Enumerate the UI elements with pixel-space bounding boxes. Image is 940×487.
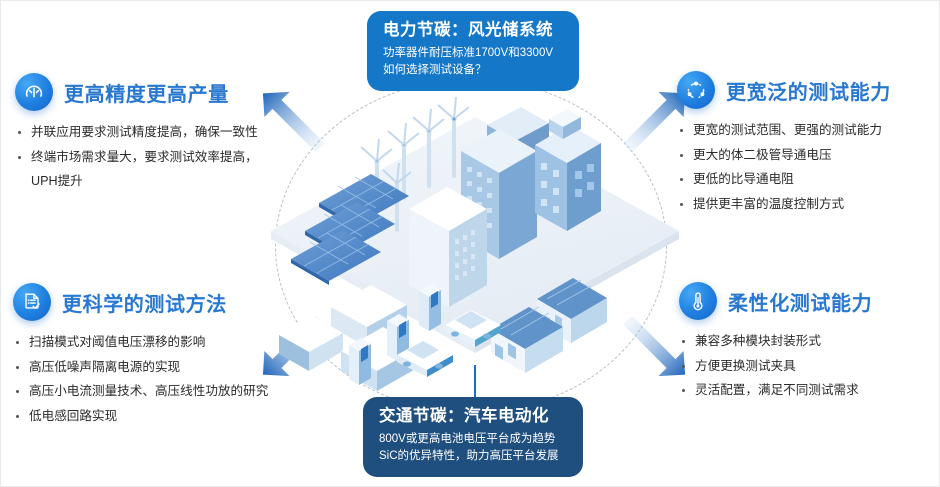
list-item: 并联应用要求测试精度提高，确保一致性 bbox=[15, 120, 283, 145]
infographic-root: 电力节碳：风光储系统 功率器件耐压标准1700V和3300V 如何选择测试设备？… bbox=[0, 0, 940, 487]
callout-top-line-2: 如何选择测试设备？ bbox=[383, 62, 563, 80]
callout-bottom: 交通节碳：汽车电动化 800V或更高电池电压平台成为趋势 SiC的优异特性，助力… bbox=[363, 397, 583, 477]
callout-bottom-line-1: 800V或更高电池电压平台成为趋势 bbox=[379, 431, 567, 449]
feature-block-header: 更高精度更高产量 bbox=[15, 73, 283, 111]
gauge-icon bbox=[15, 73, 53, 111]
central-white-tower bbox=[409, 187, 487, 307]
list-item: 方便更换测试夹具 bbox=[679, 354, 929, 379]
document-check-icon bbox=[13, 283, 51, 321]
feature-block-flexible-test-capability: 柔性化测试能力 兼容多种模块封装形式 方便更换测试夹具 灵活配置，满足不同测试需… bbox=[679, 282, 929, 403]
share-network-icon bbox=[677, 71, 715, 109]
list-item: 高压小电流测量技术、高压线性功放的研究 bbox=[13, 379, 303, 404]
list-item: 终端市场需求量大，要求测试效率提高，UPH提升 bbox=[15, 145, 283, 194]
feature-block-header: 更宽泛的测试能力 bbox=[677, 71, 935, 109]
feature-title: 柔性化测试能力 bbox=[728, 287, 872, 316]
list-item: 低电感回路实现 bbox=[13, 404, 303, 429]
feature-block-wider-test-capability: 更宽泛的测试能力 更宽的测试范围、更强的测试能力 更大的体二极管导通电压 更低的… bbox=[677, 71, 935, 216]
list-item: 更大的体二极管导通电压 bbox=[677, 143, 935, 168]
list-item: 更宽的测试范围、更强的测试能力 bbox=[677, 118, 935, 143]
feature-list: 兼容多种模块封装形式 方便更换测试夹具 灵活配置，满足不同测试需求 bbox=[679, 329, 929, 403]
feature-block-scientific-test-method: 更科学的测试方法 扫描模式对阈值电压漂移的影响 高压低噪声隔离电源的实现 高压小… bbox=[13, 283, 303, 428]
callout-top-title: 电力节碳：风光储系统 bbox=[383, 20, 563, 41]
list-item: 提供更丰富的温度控制方式 bbox=[677, 192, 935, 217]
list-item: 兼容多种模块封装形式 bbox=[679, 329, 929, 354]
thermometer-icon bbox=[679, 282, 717, 320]
feature-list: 扫描模式对阈值电压漂移的影响 高压低噪声隔离电源的实现 高压小电流测量技术、高压… bbox=[13, 330, 303, 428]
feature-block-higher-accuracy: 更高精度更高产量 并联应用要求测试精度提高，确保一致性 终端市场需求量大，要求测… bbox=[15, 73, 283, 194]
callout-bottom-title: 交通节碳：汽车电动化 bbox=[379, 406, 567, 427]
feature-title: 更宽泛的测试能力 bbox=[726, 76, 891, 105]
feature-title: 更科学的测试方法 bbox=[62, 288, 227, 317]
list-item: 更低的比导通电阻 bbox=[677, 167, 935, 192]
list-item: 灵活配置，满足不同测试需求 bbox=[679, 378, 929, 403]
callout-bottom-line-2: SiC的优异特性，助力高压平台发展 bbox=[379, 448, 567, 466]
feature-block-header: 更科学的测试方法 bbox=[13, 283, 303, 321]
feature-list: 更宽的测试范围、更强的测试能力 更大的体二极管导通电压 更低的比导通电阻 提供更… bbox=[677, 118, 935, 216]
callout-top: 电力节碳：风光储系统 功率器件耐压标准1700V和3300V 如何选择测试设备？ bbox=[367, 11, 579, 91]
callout-top-line-1: 功率器件耐压标准1700V和3300V bbox=[383, 45, 563, 63]
feature-title: 更高精度更高产量 bbox=[64, 78, 229, 107]
illustration-stage bbox=[249, 59, 701, 419]
list-item: 高压低噪声隔离电源的实现 bbox=[13, 355, 303, 380]
isometric-city-illustration bbox=[249, 59, 701, 419]
feature-block-header: 柔性化测试能力 bbox=[679, 282, 929, 320]
feature-list: 并联应用要求测试精度提高，确保一致性 终端市场需求量大，要求测试效率提高，UPH… bbox=[15, 120, 283, 194]
list-item: 扫描模式对阈值电压漂移的影响 bbox=[13, 330, 303, 355]
